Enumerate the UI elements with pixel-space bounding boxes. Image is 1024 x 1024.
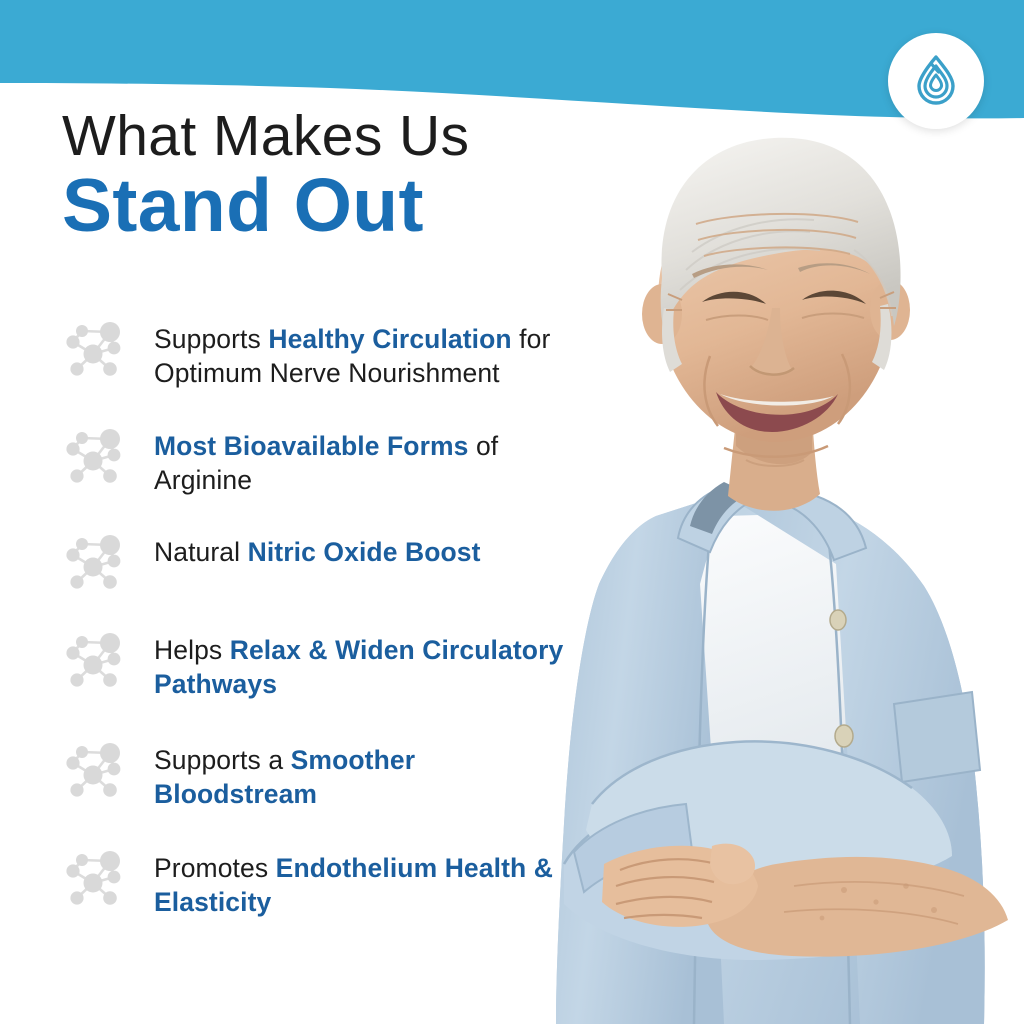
list-item: Supports Healthy Circulation for Optimum…: [62, 318, 582, 390]
molecule-network-icon: [62, 629, 128, 695]
list-item-label: Natural Nitric Oxide Boost: [154, 531, 582, 570]
water-drop-spiral-icon: [905, 50, 967, 112]
list-item: Helps Relax & Widen Circulatory Pathways: [62, 629, 582, 701]
list-item: Most Bioavailable Forms of Arginine: [62, 425, 582, 497]
list-item-label: Helps Relax & Widen Circulatory Pathways: [154, 629, 582, 701]
molecule-network-icon: [62, 425, 128, 491]
infographic-canvas: What Makes Us Stand Out: [0, 0, 1024, 1024]
list-item: Natural Nitric Oxide Boost: [62, 531, 582, 597]
list-item: Supports a Smoother Bloodstream: [62, 739, 582, 811]
benefits-list: Supports Healthy Circulation for Optimum…: [62, 318, 582, 919]
molecule-network-icon: [62, 318, 128, 384]
headline-line-1: What Makes Us: [62, 104, 469, 168]
list-item-label: Most Bioavailable Forms of Arginine: [154, 425, 582, 497]
list-item-label: Supports a Smoother Bloodstream: [154, 739, 582, 811]
molecule-network-icon: [62, 531, 128, 597]
headline-line-2: Stand Out: [62, 166, 469, 244]
molecule-network-icon: [62, 739, 128, 805]
list-item-label: Supports Healthy Circulation for Optimum…: [154, 318, 582, 390]
list-item-label: Promotes Endothelium Health & Elasticity: [154, 847, 582, 919]
page-title: What Makes Us Stand Out: [62, 104, 469, 244]
brand-logo-badge[interactable]: [888, 33, 984, 129]
list-item: Promotes Endothelium Health & Elasticity: [62, 847, 582, 919]
molecule-network-icon: [62, 847, 128, 913]
